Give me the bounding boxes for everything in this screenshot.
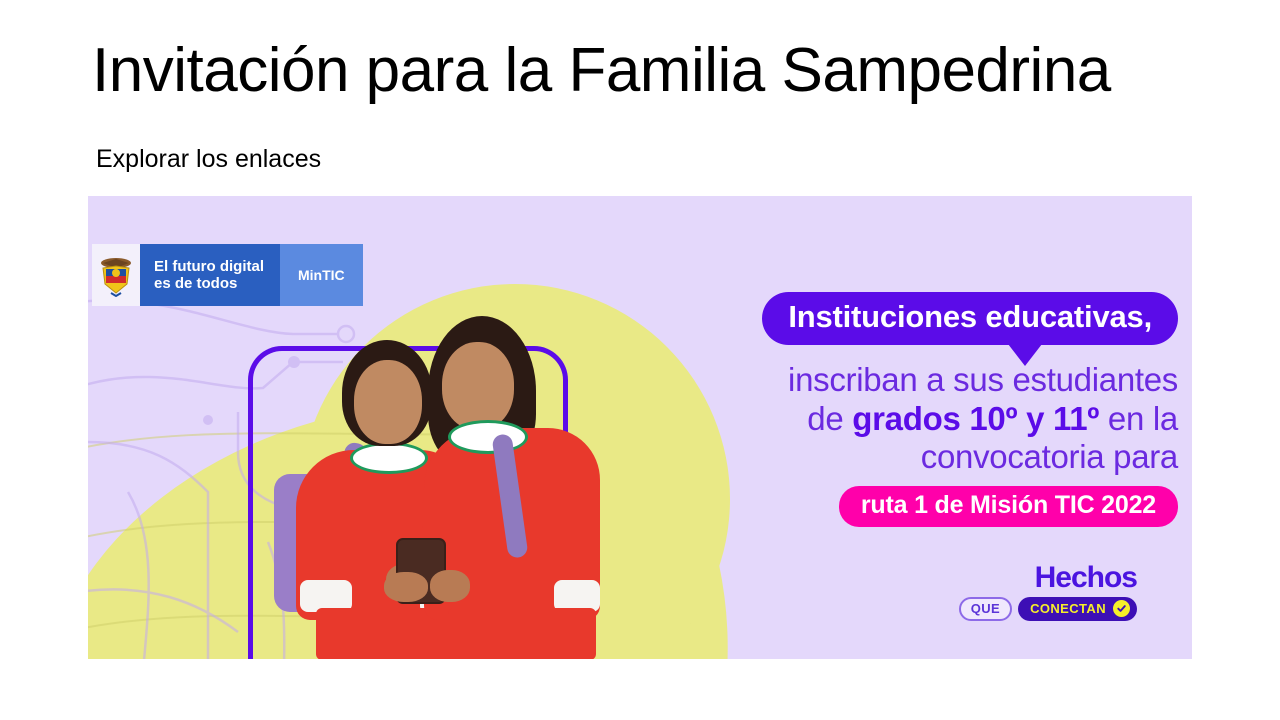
hand-left — [384, 572, 428, 602]
campaign-body-copy: inscriban a sus estudiantes de grados 10… — [618, 361, 1178, 478]
mintic-ministry-label: MinTIC — [280, 244, 363, 306]
speech-bubble-tail-icon — [1008, 344, 1042, 366]
conectan-pill: CONECTAN — [1018, 597, 1137, 621]
body-line-2-pre: de — [807, 400, 852, 437]
mintic-slogan: El futuro digital es de todos — [140, 244, 280, 306]
body-line-1: inscriban a sus estudiantes — [618, 361, 1178, 400]
campaign-route-pill: ruta 1 de Misión TIC 2022 — [839, 486, 1178, 527]
colombia-coat-of-arms-icon — [92, 244, 140, 306]
hechos-word: Hechos — [959, 563, 1137, 593]
campaign-copy-block: Instituciones educativas, inscriban a su… — [618, 292, 1178, 527]
hechos-que-conectan-logo: Hechos QUE CONECTAN — [959, 563, 1137, 621]
headline-bubble: Instituciones educativas, — [762, 292, 1178, 345]
body-line-2: de grados 10º y 11º en la — [618, 400, 1178, 439]
campaign-banner-image[interactable]: El futuro digital es de todos MinTIC Ins… — [88, 196, 1192, 659]
body-line-2-emphasis: grados 10º y 11º — [852, 400, 1099, 437]
students-photo — [238, 302, 638, 659]
headline-bubble-wrapper: Instituciones educativas, — [618, 292, 1178, 345]
que-pill: QUE — [959, 597, 1012, 621]
hechos-pill-row: QUE CONECTAN — [959, 597, 1137, 621]
conectan-label: CONECTAN — [1030, 601, 1106, 616]
mintic-government-logo: El futuro digital es de todos MinTIC — [92, 244, 363, 306]
body-line-2-post: en la — [1099, 400, 1178, 437]
hand-right — [430, 570, 470, 602]
slide-subtitle: Explorar los enlaces — [96, 144, 321, 174]
page-title: Invitación para la Familia Sampedrina — [92, 38, 1192, 103]
check-badge-icon — [1113, 600, 1130, 617]
body-line-3: convocatoria para — [618, 438, 1178, 477]
